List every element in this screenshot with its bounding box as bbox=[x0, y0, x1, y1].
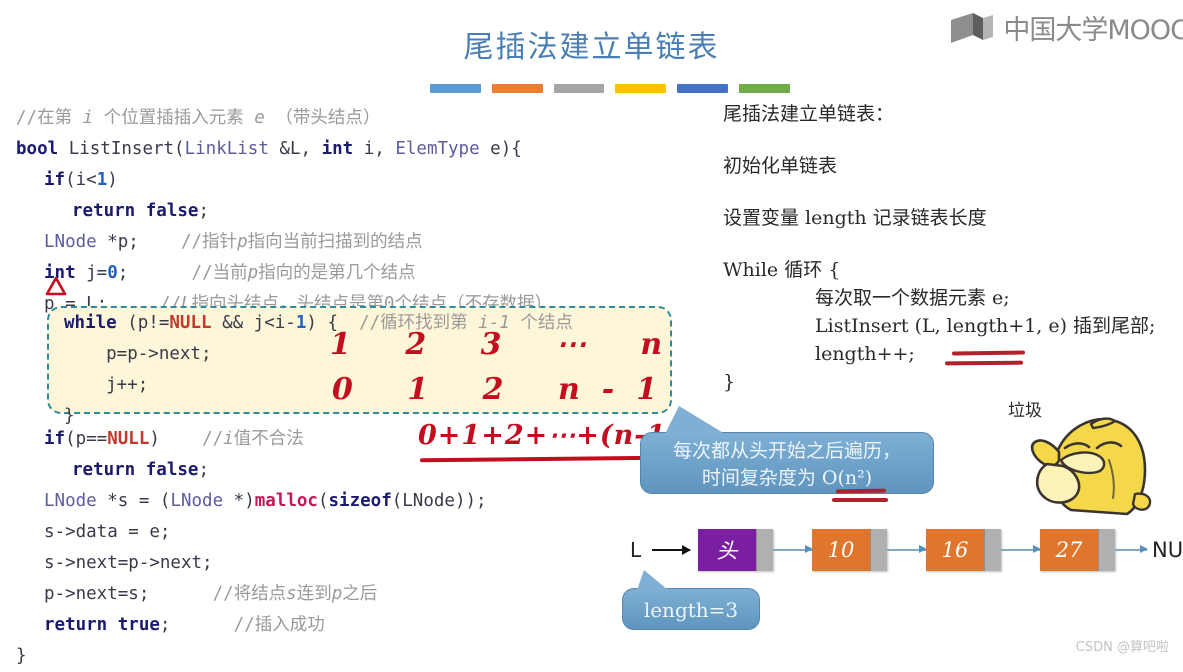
complexity-callout-line1: 每次都从头开始之后遍历， bbox=[641, 438, 933, 465]
right-panel-step2: 设置变量 length 记录链表长度 bbox=[723, 204, 1155, 232]
code-token: *) bbox=[223, 491, 255, 511]
code-token: 之后 bbox=[342, 584, 377, 604]
length-callout: length=3 bbox=[622, 588, 760, 630]
code-token: //将结点 bbox=[213, 584, 287, 604]
code-token: 个位置插插入元素 bbox=[93, 108, 254, 128]
code-token: s->next=p->next; bbox=[44, 553, 213, 573]
code-token: i, bbox=[353, 139, 395, 159]
linked-list-node-1-value: 16 bbox=[926, 529, 984, 571]
code-token: while bbox=[64, 313, 117, 333]
code-token: ; bbox=[198, 460, 209, 480]
code-token: ElemType bbox=[395, 139, 479, 159]
right-panel-while-body-2: length++; bbox=[723, 340, 1155, 368]
code-token: ; bbox=[118, 263, 192, 283]
watermark: CSDN @算吧啦 bbox=[1076, 636, 1169, 655]
handwriting-index-row-top: 1 2 3 ⋯ n bbox=[330, 327, 684, 362]
code-token: } bbox=[16, 646, 27, 666]
length-underline-2 bbox=[945, 361, 1023, 365]
code-token: return false bbox=[72, 460, 198, 480]
code-block-lower: if(p==NULL) //i值不合法return false;LNode *s… bbox=[16, 424, 487, 672]
right-panel-while-body-0: 每次取一个数据元素 e; bbox=[723, 284, 1155, 312]
code-line-5: p->next=s; //将结点s连到p之后 bbox=[16, 579, 487, 610]
code-token: (i< bbox=[65, 170, 97, 190]
code-token: //当前 bbox=[192, 263, 248, 283]
handwriting-index-row-bottom: 0 1 2 n-1 bbox=[332, 372, 679, 407]
code-token: i bbox=[83, 108, 94, 128]
code-token: *p; bbox=[97, 232, 181, 252]
code-token: LinkList bbox=[185, 139, 269, 159]
right-panel-while-body-1: ListInsert (L, length+1, e) 插到尾部; bbox=[723, 312, 1155, 340]
code-token: (LNode)); bbox=[392, 491, 487, 511]
linked-list-link-3-icon bbox=[1115, 549, 1147, 551]
code-token: NULL bbox=[169, 313, 211, 333]
right-panel-while-close: } bbox=[723, 368, 1155, 396]
code-token: int bbox=[322, 139, 354, 159]
code-token: sizeof bbox=[329, 491, 392, 511]
code-token: if bbox=[44, 170, 65, 190]
code-line-3: s->data = e; bbox=[16, 517, 487, 548]
code-token: ) bbox=[149, 429, 202, 449]
linked-list-start-arrow-icon bbox=[652, 549, 690, 551]
linked-list-node-1-pointer-field bbox=[984, 529, 1001, 571]
code-token: //指针 bbox=[181, 232, 237, 252]
code-line-4: LNode *p; //指针p指向当前扫描到的结点 bbox=[16, 227, 552, 258]
code-token: (p== bbox=[65, 429, 107, 449]
code-token: if bbox=[44, 429, 65, 449]
code-line-7: } bbox=[16, 641, 487, 672]
code-token: malloc bbox=[255, 491, 318, 511]
code-line-4: s->next=p->next; bbox=[16, 548, 487, 579]
length-callout-tail-icon bbox=[637, 570, 668, 590]
code-token: 指向当前扫描到的结点 bbox=[248, 232, 423, 252]
code-token: //插入成功 bbox=[234, 615, 325, 635]
code-token: p bbox=[248, 263, 259, 283]
title-bar-1 bbox=[492, 84, 543, 93]
linked-list-link-2-icon bbox=[1001, 549, 1040, 551]
length-callout-label: length=3 bbox=[644, 598, 738, 622]
complexity-callout: 每次都从头开始之后遍历， 时间复杂度为 O(n²) bbox=[640, 432, 934, 494]
linked-list-start-label: L bbox=[630, 538, 641, 562]
code-line-2: LNode *s = (LNode *)malloc(sizeof(LNode)… bbox=[16, 486, 487, 517]
code-token: 连到 bbox=[297, 584, 332, 604]
slide-canvas: 尾插法建立单链表 中国大学MOOC //在第 i 个位置插插入元素 e （带头结… bbox=[0, 0, 1183, 661]
code-block: //在第 i 个位置插插入元素 e （带头结点）bool ListInsert(… bbox=[16, 103, 552, 320]
code-token: ( bbox=[318, 491, 329, 511]
complexity-callout-tail-icon bbox=[665, 406, 725, 434]
psyduck-sticker-icon bbox=[1013, 408, 1161, 518]
code-token: s->data = e; bbox=[44, 522, 170, 542]
right-panel-while-open: While 循环 { bbox=[723, 256, 1155, 284]
code-line-2: if(i<1) bbox=[16, 165, 552, 196]
mooc-logo-text: 中国大学MOOC bbox=[1003, 8, 1183, 47]
code-line-0: //在第 i 个位置插插入元素 e （带头结点） bbox=[16, 103, 552, 134]
complexity-callout-line2: 时间复杂度为 O(n²) bbox=[641, 465, 933, 492]
code-token: 1 bbox=[97, 170, 108, 190]
right-panel-heading: 尾插法建立单链表： bbox=[723, 100, 1155, 128]
code-token: ; bbox=[198, 201, 209, 221]
code-token: ) bbox=[107, 170, 118, 190]
linked-list-node-2-value: 27 bbox=[1040, 529, 1098, 571]
code-line-5: int j=0; //当前p指向的是第几个结点 bbox=[16, 258, 552, 289]
code-line-3: return false; bbox=[16, 196, 552, 227]
linked-list-terminator: NULL bbox=[1152, 538, 1183, 562]
linked-list-head-node: 头 bbox=[698, 529, 773, 571]
title-bar-5 bbox=[739, 84, 790, 93]
code-token: 1 bbox=[296, 313, 307, 333]
code-token: &L, bbox=[269, 139, 322, 159]
code-token: e){ bbox=[480, 139, 522, 159]
linked-list-node-2-pointer-field bbox=[1098, 529, 1115, 571]
code-token: 0 bbox=[107, 263, 118, 283]
code-token: ; bbox=[160, 615, 234, 635]
code-token: s bbox=[286, 584, 297, 604]
linked-list-node-2: 27 bbox=[1040, 529, 1115, 571]
code-token: (p!= bbox=[117, 313, 170, 333]
title-bar-4 bbox=[677, 84, 728, 93]
title-bar-3 bbox=[615, 84, 666, 93]
linked-list-node-0: 10 bbox=[812, 529, 887, 571]
code-token: *s = ( bbox=[97, 491, 171, 511]
linked-list-node-0-pointer-field bbox=[870, 529, 887, 571]
linked-list-head-label: 头 bbox=[698, 529, 756, 571]
code-token: bool bbox=[16, 139, 58, 159]
code-token: p bbox=[332, 584, 343, 604]
right-panel-step1: 初始化单链表 bbox=[723, 152, 1155, 180]
code-token: return false bbox=[72, 201, 198, 221]
code-line-6: return true; //插入成功 bbox=[16, 610, 487, 641]
code-line-0: if(p==NULL) //i值不合法 bbox=[16, 424, 487, 455]
triangle-marker-icon bbox=[36, 276, 54, 293]
mooc-logo-mark-icon bbox=[949, 11, 995, 45]
code-token: && j<i- bbox=[212, 313, 296, 333]
mooc-logo: 中国大学MOOC bbox=[949, 8, 1183, 47]
code-token: （带头结点） bbox=[265, 108, 381, 128]
code-token: j= bbox=[76, 263, 108, 283]
code-token: e bbox=[254, 108, 265, 128]
linked-list-head-pointer-field bbox=[756, 529, 773, 571]
code-token: p=p->next; bbox=[64, 344, 212, 364]
linked-list-link-0-icon bbox=[773, 549, 812, 551]
code-token: p bbox=[237, 232, 248, 252]
code-token: p->next=s; bbox=[44, 584, 213, 604]
right-text-panel: 尾插法建立单链表： 初始化单链表 设置变量 length 记录链表长度 Whil… bbox=[723, 100, 1155, 396]
code-token: j++; bbox=[64, 375, 148, 395]
linked-list-link-1-icon bbox=[887, 549, 926, 551]
code-line-1: bool ListInsert(LinkList &L, int i, Elem… bbox=[16, 134, 552, 165]
title-bar-2 bbox=[554, 84, 605, 93]
code-token: // bbox=[202, 429, 223, 449]
code-token: LNode bbox=[44, 232, 97, 252]
complexity-underline-2 bbox=[832, 498, 888, 502]
code-token: 指向的是第几个结点 bbox=[258, 263, 416, 283]
code-token: i bbox=[223, 429, 234, 449]
code-token: LNode bbox=[170, 491, 223, 511]
code-token: LNode bbox=[44, 491, 97, 511]
code-token: 值不合法 bbox=[234, 429, 304, 449]
title-decoration-bars bbox=[430, 84, 790, 93]
linked-list-node-1: 16 bbox=[926, 529, 1001, 571]
code-token: } bbox=[64, 406, 75, 426]
linked-list-node-0-value: 10 bbox=[812, 529, 870, 571]
title-bar-0 bbox=[430, 84, 481, 93]
code-token: NULL bbox=[107, 429, 149, 449]
code-line-1: return false; bbox=[16, 455, 487, 486]
code-token: //在第 bbox=[16, 108, 83, 128]
code-token: return true bbox=[44, 615, 160, 635]
code-token: ListInsert( bbox=[58, 139, 184, 159]
